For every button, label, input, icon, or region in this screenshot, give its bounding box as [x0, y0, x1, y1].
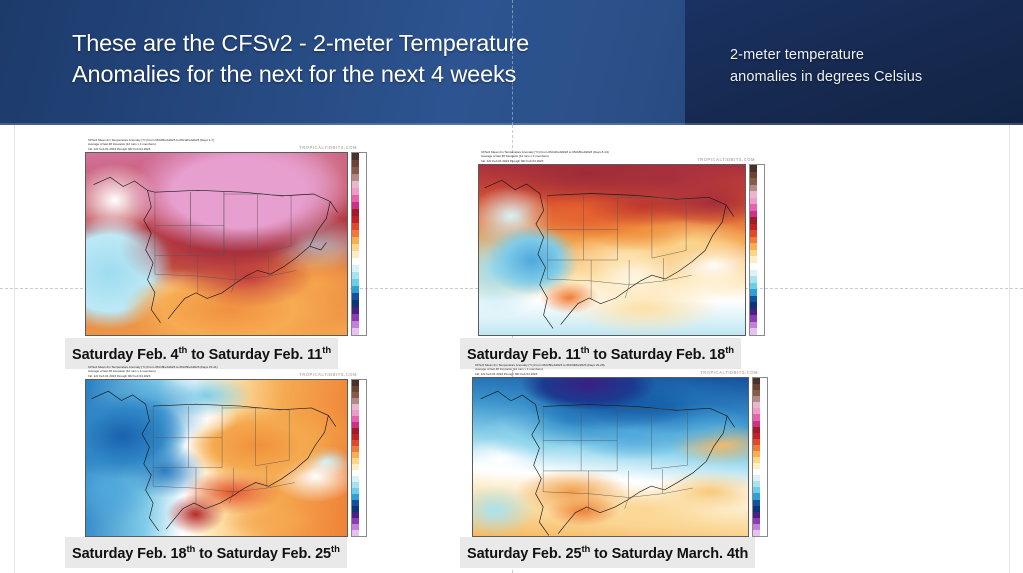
map-panel-week4[interactable]: CFSv2 Mean 2m Temperature Anomaly (°C) F…	[472, 363, 768, 537]
map-header-text-week4: CFSv2 Mean 2m Temperature Anomaly (°C) F…	[472, 363, 768, 377]
caption-text: to Saturday March. 4th	[590, 546, 748, 562]
map-header-line2: Average of last 48 forecasts (12 runs x …	[475, 367, 543, 371]
caption-sup: th	[322, 345, 331, 356]
caption-week3: Saturday Feb. 18th to Saturday Feb. 25th	[65, 537, 347, 568]
caption-text: to Saturday Feb. 18	[589, 347, 725, 363]
colorbar-week1	[351, 152, 367, 336]
caption-sup: th	[186, 544, 195, 555]
slide: These are the CFSv2 - 2-meter Temperatur…	[0, 0, 1023, 573]
map-panel-week1[interactable]: CFSv2 Mean 2m Temperature Anomaly (°C) F…	[85, 138, 367, 336]
map-header-line3: Init: 12z Feb 01 2023 through 06z Feb 04…	[475, 372, 537, 376]
map-header-line1: CFSv2 Mean 2m Temperature Anomaly (°C) F…	[481, 150, 609, 154]
watermark-week4: TROPICALTIDBITS.COM	[700, 371, 758, 375]
caption-text: to Saturday Feb. 11	[187, 347, 322, 363]
header-side-note: 2-meter temperature anomalies in degrees…	[730, 44, 1000, 88]
anomaly-field-week3	[86, 380, 347, 536]
map-header-line3: Init: 12z Feb 01 2023 through 06z Feb 04…	[88, 374, 150, 378]
page-title: These are the CFSv2 - 2-meter Temperatur…	[72, 28, 672, 90]
right-margin-guide	[1009, 125, 1010, 573]
caption-text: Saturday Feb. 25	[467, 546, 581, 562]
caption-sup: th	[725, 345, 734, 356]
slide-header: These are the CFSv2 - 2-meter Temperatur…	[0, 0, 1023, 125]
watermark-week2: TROPICALTIDBITS.COM	[697, 158, 755, 162]
caption-text: to Saturday Feb. 25	[195, 546, 331, 562]
map-header-line2: Average of last 48 forecasts (12 runs x …	[88, 369, 156, 373]
map-header-text-week3: CFSv2 Mean 2m Temperature Anomaly (°C) F…	[85, 365, 367, 379]
anomaly-field-week4	[473, 378, 748, 536]
caption-text: Saturday Feb. 4	[72, 347, 178, 363]
map-canvas-week4[interactable]: 120W 110W 100W 90W 80W 70W	[472, 377, 749, 537]
caption-sup: th	[581, 544, 590, 555]
map-header-line1: CFSv2 Mean 2m Temperature Anomaly (°C) F…	[475, 363, 605, 367]
map-header-line3: Init: 12z Feb 01 2023 through 06z Feb 04…	[88, 147, 150, 151]
map-header-line2: Average of last 48 forecasts (12 runs x …	[88, 142, 156, 146]
map-header-text-week1: CFSv2 Mean 2m Temperature Anomaly (°C) F…	[85, 138, 367, 152]
caption-text: Saturday Feb. 11	[467, 347, 581, 363]
map-canvas-week2[interactable]: 120W 110W 100W 90W 80W 70W	[478, 164, 746, 336]
map-panel-week3[interactable]: CFSv2 Mean 2m Temperature Anomaly (°C) F…	[85, 365, 367, 537]
map-header-line3: Init: 12z Feb 01 2023 through 06z Feb 04…	[481, 159, 543, 163]
left-margin-guide	[14, 125, 15, 573]
caption-sup: th	[178, 345, 187, 356]
caption-text: Saturday Feb. 18	[72, 546, 186, 562]
anomaly-field-week1	[86, 153, 347, 335]
caption-sup: th	[331, 544, 340, 555]
anomaly-field-week2	[479, 165, 745, 335]
map-header-text-week2: CFSv2 Mean 2m Temperature Anomaly (°C) F…	[478, 150, 765, 164]
map-canvas-week1[interactable]: 120W 110W 100W 90W 80W 70W	[85, 152, 348, 336]
watermark-week1: TROPICALTIDBITS.COM	[299, 146, 357, 150]
map-header-line1: CFSv2 Mean 2m Temperature Anomaly (°C) F…	[88, 365, 218, 369]
colorbar-week4	[752, 377, 768, 537]
watermark-week3: TROPICALTIDBITS.COM	[299, 373, 357, 377]
map-panel-week2[interactable]: CFSv2 Mean 2m Temperature Anomaly (°C) F…	[478, 150, 765, 336]
colorbar-week3	[351, 379, 367, 537]
colorbar-week2	[749, 164, 765, 336]
map-header-line2: Average of last 48 forecasts (12 runs x …	[481, 154, 549, 158]
map-canvas-week3[interactable]: 120W 110W 100W 90W 80W 70W	[85, 379, 348, 537]
caption-week4: Saturday Feb. 25th to Saturday March. 4t…	[460, 537, 755, 568]
map-header-line1: CFSv2 Mean 2m Temperature Anomaly (°C) F…	[88, 138, 214, 142]
